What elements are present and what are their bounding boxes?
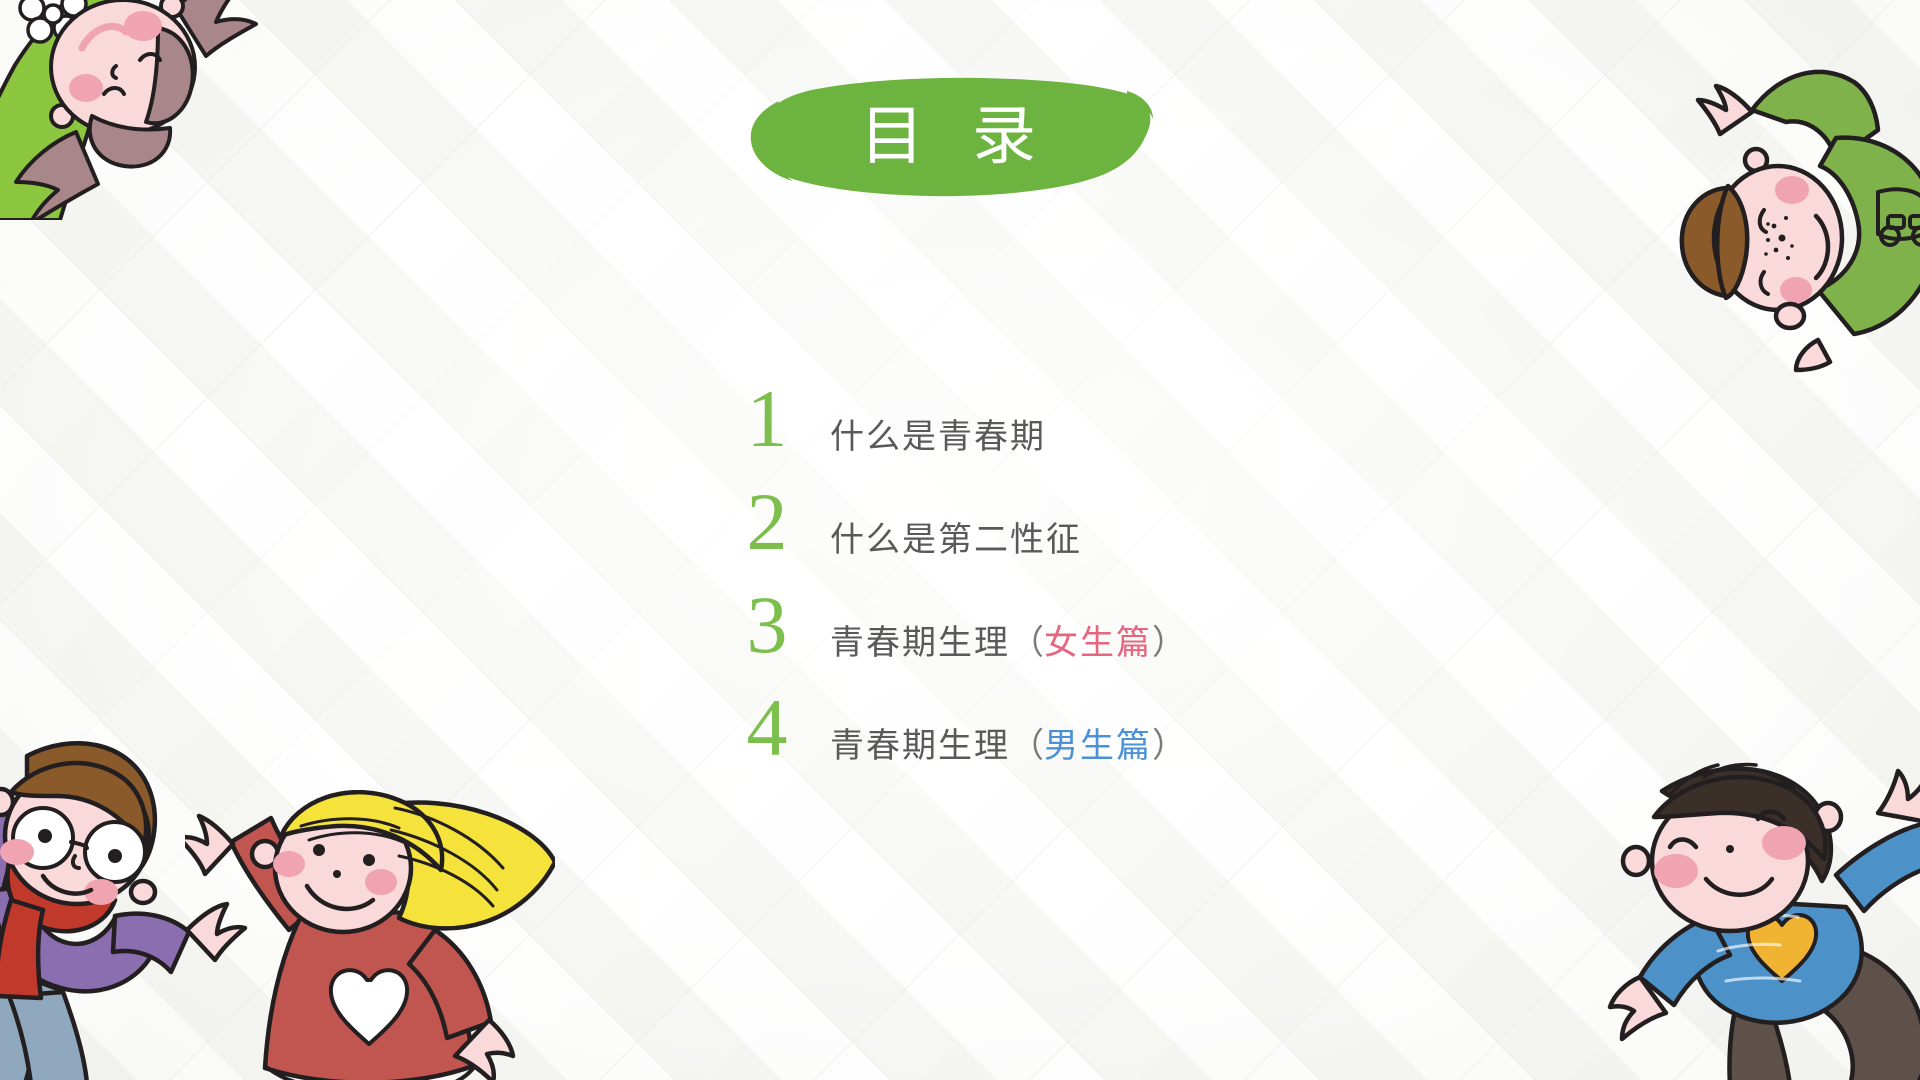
toc-label-2: 什么是第二性征	[830, 519, 1082, 561]
toc-label-text-4: 青春期生理	[830, 727, 1010, 765]
character-boy-freckles	[1640, 40, 1920, 400]
toc-paren-open-4: （	[1010, 727, 1044, 765]
toc-number-1: 1	[735, 378, 799, 460]
table-of-contents: 1 什么是青春期 2 什么是第二性征 3 青春期生理（女生篇） 4 青春期生理（…	[735, 388, 1435, 800]
toc-item-1[interactable]: 1 什么是青春期	[735, 388, 1435, 491]
toc-label-1: 什么是青春期	[830, 416, 1046, 458]
toc-label-text-1: 什么是青春期	[830, 418, 1046, 456]
toc-tag-4: 男生篇	[1044, 727, 1152, 765]
toc-paren-close-4: ）	[1152, 727, 1186, 765]
toc-number-2: 2	[735, 481, 799, 563]
toc-tag-3: 女生篇	[1044, 624, 1152, 662]
toc-paren-open-3: （	[1010, 624, 1044, 662]
slide-canvas: 目 录 1 什么是青春期 2 什么是第二性征 3 青春期生理（女生篇） 4 青春…	[0, 0, 1920, 1080]
character-girl-blonde	[185, 790, 555, 1080]
toc-item-3[interactable]: 3 青春期生理（女生篇）	[735, 594, 1435, 697]
toc-label-4: 青春期生理（男生篇）	[830, 725, 1186, 767]
toc-item-2[interactable]: 2 什么是第二性征	[735, 491, 1435, 594]
page-title: 目 录	[783, 99, 1113, 175]
toc-item-4[interactable]: 4 青春期生理（男生篇）	[735, 697, 1435, 800]
toc-label-text-3: 青春期生理	[830, 624, 1010, 662]
toc-label-text-2: 什么是第二性征	[830, 521, 1082, 559]
toc-number-4: 4	[735, 687, 799, 769]
character-boy-blue-sweater	[1600, 755, 1920, 1080]
toc-paren-close-3: ）	[1152, 624, 1186, 662]
character-girl-pigtails	[0, 0, 280, 220]
slide-title-block: 目 录	[735, 75, 1195, 215]
toc-label-3: 青春期生理（女生篇）	[830, 622, 1186, 664]
toc-number-3: 3	[735, 584, 799, 666]
